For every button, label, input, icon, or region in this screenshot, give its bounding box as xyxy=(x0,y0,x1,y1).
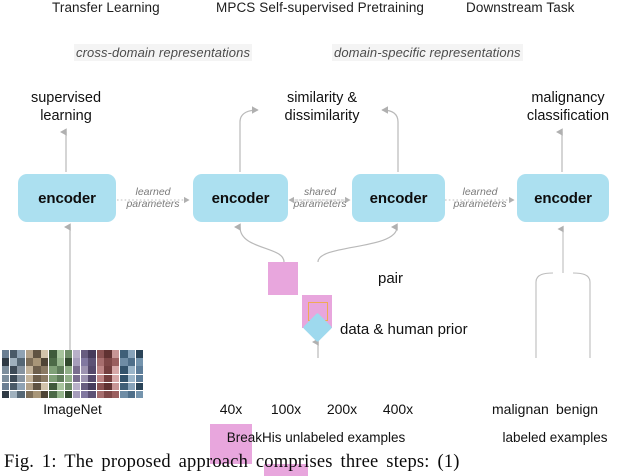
imagenet-thumbnail-pixel xyxy=(120,375,127,383)
imagenet-thumbnail-pixel xyxy=(33,366,40,374)
imagenet-thumbnail xyxy=(49,375,72,399)
imagenet-thumbnail-pixel xyxy=(57,358,64,366)
imagenet-thumbnail-pixel xyxy=(112,383,119,391)
imagenet-thumbnail-pixel xyxy=(81,383,88,391)
connector-label-shared-line1: shared xyxy=(288,186,352,198)
imagenet-thumbnail-pixel xyxy=(112,350,119,358)
imagenet-thumbnail-pixel xyxy=(81,350,88,358)
imagenet-thumbnail-pixel xyxy=(65,350,72,358)
imagenet-thumbnail-pixel xyxy=(26,375,33,383)
imagenet-thumbnail-pixel xyxy=(73,375,80,383)
class-label-malignant: malignan xyxy=(492,401,549,417)
imagenet-thumbnail-pixel xyxy=(2,350,9,358)
output-label-supervised-learning-line1: supervised xyxy=(10,90,122,108)
imagenet-thumbnail-pixel xyxy=(10,375,17,383)
imagenet-thumbnail xyxy=(26,350,49,374)
imagenet-thumbnail xyxy=(26,375,49,399)
encoder-box-1[interactable]: encoder xyxy=(18,174,116,222)
imagenet-thumbnail-pixel xyxy=(73,350,80,358)
imagenet-thumbnail-pixel xyxy=(57,375,64,383)
output-label-similarity-dissimilarity: similarity & dissimilarity xyxy=(268,90,376,125)
imagenet-thumbnail-pixel xyxy=(2,375,9,383)
imagenet-thumbnail-pixel xyxy=(120,358,127,366)
imagenet-thumbnail-pixel xyxy=(88,358,95,366)
phase-label-downstream-task: Downstream Task xyxy=(466,0,575,15)
imagenet-thumbnail-pixel xyxy=(65,358,72,366)
imagenet-thumbnail-pixel xyxy=(136,350,143,358)
imagenet-thumbnail-pixel xyxy=(49,358,56,366)
connector-label-learned-parameters-1: learned parameters xyxy=(120,186,186,211)
imagenet-thumbnail-pixel xyxy=(33,350,40,358)
imagenet-thumbnail-pixel xyxy=(81,391,88,399)
encoder-box-3[interactable]: encoder xyxy=(352,174,445,222)
imagenet-thumbnail-pixel xyxy=(65,383,72,391)
imagenet-collage xyxy=(2,350,143,398)
imagenet-thumbnail-pixel xyxy=(33,358,40,366)
imagenet-thumbnail-pixel xyxy=(49,391,56,399)
imagenet-thumbnail-pixel xyxy=(97,383,104,391)
imagenet-thumbnail-pixel xyxy=(104,350,111,358)
imagenet-thumbnail-pixel xyxy=(120,350,127,358)
imagenet-thumbnail-pixel xyxy=(136,375,143,383)
connector-label-learned-parameters-2: learned parameters xyxy=(447,186,513,211)
imagenet-thumbnail-pixel xyxy=(10,358,17,366)
imagenet-thumbnail-pixel xyxy=(136,358,143,366)
imagenet-thumbnail-pixel xyxy=(128,366,135,374)
imagenet-thumbnail-pixel xyxy=(97,358,104,366)
imagenet-thumbnail-pixel xyxy=(49,375,56,383)
imagenet-label: ImageNet xyxy=(2,402,143,417)
encoder-box-4[interactable]: encoder xyxy=(517,174,609,222)
imagenet-thumbnail-pixel xyxy=(120,366,127,374)
pair-label: pair xyxy=(378,270,403,287)
pair-image-left xyxy=(268,262,298,295)
imagenet-thumbnail-pixel xyxy=(26,358,33,366)
imagenet-thumbnail-pixel xyxy=(41,366,48,374)
imagenet-thumbnail-pixel xyxy=(104,383,111,391)
magnification-label-400x: 400x xyxy=(370,401,426,417)
connector-label-shared-parameters: shared parameters xyxy=(288,186,352,211)
histology-texture xyxy=(268,262,298,295)
imagenet-thumbnail-pixel xyxy=(88,350,95,358)
imagenet-thumbnail-pixel xyxy=(26,383,33,391)
output-label-malignancy-classification: malignancy classification xyxy=(505,90,631,125)
imagenet-thumbnail-pixel xyxy=(128,383,135,391)
imagenet-thumbnail-pixel xyxy=(17,366,24,374)
imagenet-thumbnail-pixel xyxy=(120,391,127,399)
imagenet-thumbnail-pixel xyxy=(41,375,48,383)
imagenet-thumbnail-pixel xyxy=(97,375,104,383)
imagenet-thumbnail-pixel xyxy=(26,391,33,399)
encoder-box-2-label: encoder xyxy=(212,190,270,207)
imagenet-thumbnail-pixel xyxy=(2,358,9,366)
imagenet-thumbnail-pixel xyxy=(33,375,40,383)
imagenet-thumbnail-pixel xyxy=(104,358,111,366)
imagenet-thumbnail-pixel xyxy=(41,391,48,399)
imagenet-thumbnail-pixel xyxy=(128,350,135,358)
imagenet-thumbnail-pixel xyxy=(33,383,40,391)
data-human-prior-label: data & human prior xyxy=(340,321,468,338)
magnification-label-200x: 200x xyxy=(314,401,370,417)
encoder-box-3-label: encoder xyxy=(370,190,428,207)
imagenet-thumbnail-pixel xyxy=(26,366,33,374)
imagenet-thumbnail-pixel xyxy=(10,391,17,399)
imagenet-thumbnail-pixel xyxy=(65,366,72,374)
imagenet-thumbnail-pixel xyxy=(10,383,17,391)
data-human-prior-diamond xyxy=(307,317,328,338)
imagenet-thumbnail-pixel xyxy=(73,383,80,391)
imagenet-thumbnail-pixel xyxy=(41,358,48,366)
imagenet-thumbnail xyxy=(97,350,120,374)
imagenet-thumbnail-pixel xyxy=(136,383,143,391)
imagenet-thumbnail-pixel xyxy=(2,391,9,399)
encoder-box-1-label: encoder xyxy=(38,190,96,207)
imagenet-thumbnail-pixel xyxy=(73,391,80,399)
imagenet-thumbnail-pixel xyxy=(57,350,64,358)
imagenet-thumbnail-pixel xyxy=(81,375,88,383)
output-label-supervised-learning: supervised learning xyxy=(10,90,122,125)
class-label-benign: benign xyxy=(556,401,598,417)
imagenet-thumbnail-pixel xyxy=(17,383,24,391)
imagenet-thumbnail-pixel xyxy=(10,350,17,358)
imagenet-thumbnail-pixel xyxy=(112,375,119,383)
imagenet-thumbnail-pixel xyxy=(17,350,24,358)
connector-label-shared-line2: parameters xyxy=(288,198,352,210)
imagenet-thumbnail-pixel xyxy=(104,375,111,383)
imagenet-thumbnail-pixel xyxy=(136,391,143,399)
imagenet-thumbnail-pixel xyxy=(128,391,135,399)
imagenet-thumbnail-pixel xyxy=(136,366,143,374)
imagenet-thumbnail-pixel xyxy=(73,358,80,366)
phase-label-mpcs-pretraining: MPCS Self-supervised Pretraining xyxy=(216,0,424,15)
output-label-similarity-line2: dissimilarity xyxy=(268,108,376,126)
representation-label-domain-specific: domain-specific representations xyxy=(332,44,523,61)
imagenet-thumbnail-pixel xyxy=(73,366,80,374)
output-label-similarity-line1: similarity & xyxy=(268,90,376,108)
imagenet-thumbnail-pixel xyxy=(112,358,119,366)
imagenet-thumbnail-pixel xyxy=(88,383,95,391)
imagenet-thumbnail xyxy=(2,375,25,399)
output-label-malignancy-line2: classification xyxy=(505,108,631,126)
connector-label-learned-2-line2: parameters xyxy=(447,198,513,210)
imagenet-thumbnail-pixel xyxy=(41,383,48,391)
imagenet-thumbnail xyxy=(73,350,96,374)
imagenet-thumbnail-pixel xyxy=(65,375,72,383)
imagenet-thumbnail-pixel xyxy=(57,391,64,399)
imagenet-thumbnail-pixel xyxy=(17,358,24,366)
imagenet-thumbnail-pixel xyxy=(33,391,40,399)
imagenet-thumbnail-pixel xyxy=(81,358,88,366)
encoder-box-4-label: encoder xyxy=(534,190,592,207)
imagenet-thumbnail-pixel xyxy=(128,375,135,383)
diamond-icon xyxy=(303,313,333,343)
imagenet-thumbnail-pixel xyxy=(88,391,95,399)
labeled-caption: labeled examples xyxy=(480,430,630,445)
imagenet-thumbnail-pixel xyxy=(112,366,119,374)
imagenet-thumbnail-pixel xyxy=(2,366,9,374)
imagenet-thumbnail-pixel xyxy=(104,366,111,374)
imagenet-thumbnail-pixel xyxy=(97,366,104,374)
magnification-label-40x: 40x xyxy=(206,401,256,417)
imagenet-thumbnail-pixel xyxy=(88,375,95,383)
imagenet-thumbnail xyxy=(2,350,25,374)
imagenet-thumbnail xyxy=(120,350,143,374)
imagenet-thumbnail-pixel xyxy=(17,375,24,383)
imagenet-thumbnail-pixel xyxy=(49,366,56,374)
imagenet-thumbnail-pixel xyxy=(128,358,135,366)
imagenet-thumbnail-pixel xyxy=(26,350,33,358)
connector-label-learned-1-line2: parameters xyxy=(120,198,186,210)
imagenet-thumbnail-pixel xyxy=(17,391,24,399)
phase-label-transfer-learning: Transfer Learning xyxy=(52,0,160,15)
imagenet-thumbnail-pixel xyxy=(81,366,88,374)
imagenet-thumbnail-pixel xyxy=(112,391,119,399)
figure-caption: Fig. 1: The proposed approach comprises … xyxy=(4,452,460,473)
imagenet-thumbnail-pixel xyxy=(10,366,17,374)
breakhis-caption: BreakHis unlabeled examples xyxy=(196,430,436,445)
output-label-supervised-learning-line2: learning xyxy=(10,108,122,126)
imagenet-thumbnail-pixel xyxy=(41,350,48,358)
connector-label-learned-2-line1: learned xyxy=(447,186,513,198)
imagenet-thumbnail xyxy=(120,375,143,399)
imagenet-thumbnail-pixel xyxy=(104,391,111,399)
imagenet-thumbnail-pixel xyxy=(97,391,104,399)
imagenet-thumbnail-pixel xyxy=(97,350,104,358)
imagenet-thumbnail-pixel xyxy=(57,366,64,374)
imagenet-thumbnail xyxy=(73,375,96,399)
encoder-box-2[interactable]: encoder xyxy=(193,174,288,222)
imagenet-thumbnail-pixel xyxy=(120,383,127,391)
imagenet-thumbnail-pixel xyxy=(57,383,64,391)
imagenet-thumbnail-pixel xyxy=(65,391,72,399)
connector-label-learned-1-line1: learned xyxy=(120,186,186,198)
imagenet-thumbnail-pixel xyxy=(2,383,9,391)
imagenet-thumbnail xyxy=(49,350,72,374)
imagenet-thumbnail-pixel xyxy=(88,366,95,374)
figure-proposed-approach: Transfer Learning MPCS Self-supervised P… xyxy=(0,0,640,476)
magnification-label-100x: 100x xyxy=(258,401,314,417)
output-label-malignancy-line1: malignancy xyxy=(505,90,631,108)
imagenet-thumbnail-pixel xyxy=(49,350,56,358)
representation-label-cross-domain: cross-domain representations xyxy=(74,44,252,61)
imagenet-thumbnail-pixel xyxy=(49,383,56,391)
imagenet-thumbnail xyxy=(97,375,120,399)
